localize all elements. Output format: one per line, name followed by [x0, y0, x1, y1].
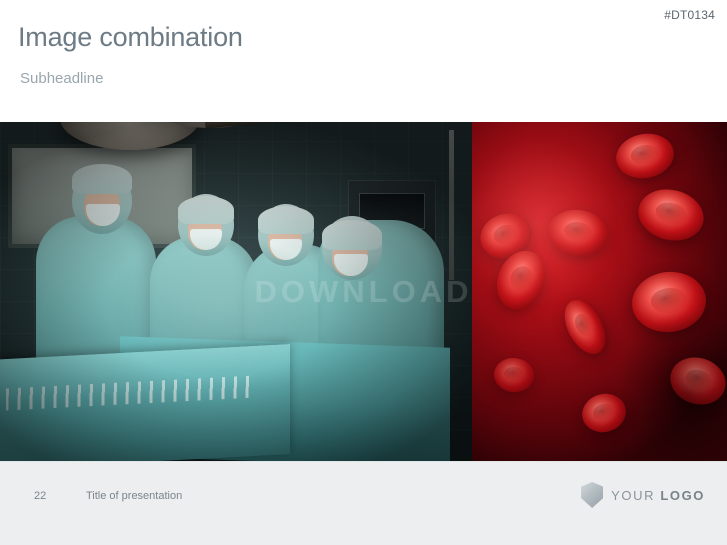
image-combination-band: DOWNLOAD — [0, 122, 727, 462]
logo-text: YOUR LOGO — [611, 488, 705, 503]
page-number: 22 — [34, 490, 46, 502]
logo-text-secondary: LOGO — [660, 488, 705, 503]
logo-shield-icon — [581, 482, 603, 508]
slide-footer: 22 Title of presentation YOUR LOGO — [0, 461, 727, 545]
footer-title: Title of presentation — [86, 490, 182, 502]
logo: YOUR LOGO — [581, 482, 705, 508]
blood-lighting-overlay — [472, 122, 727, 462]
logo-text-primary: YOUR — [611, 488, 655, 503]
photo-vignette — [0, 122, 472, 462]
page-subtitle: Subheadline — [20, 70, 103, 87]
slide-code: #DT0134 — [664, 8, 715, 22]
red-blood-cells-photo — [472, 122, 727, 462]
presentation-slide: #DT0134 Image combination Subheadline — [0, 0, 727, 545]
operating-theatre-photo — [0, 122, 472, 462]
page-title: Image combination — [18, 22, 243, 53]
